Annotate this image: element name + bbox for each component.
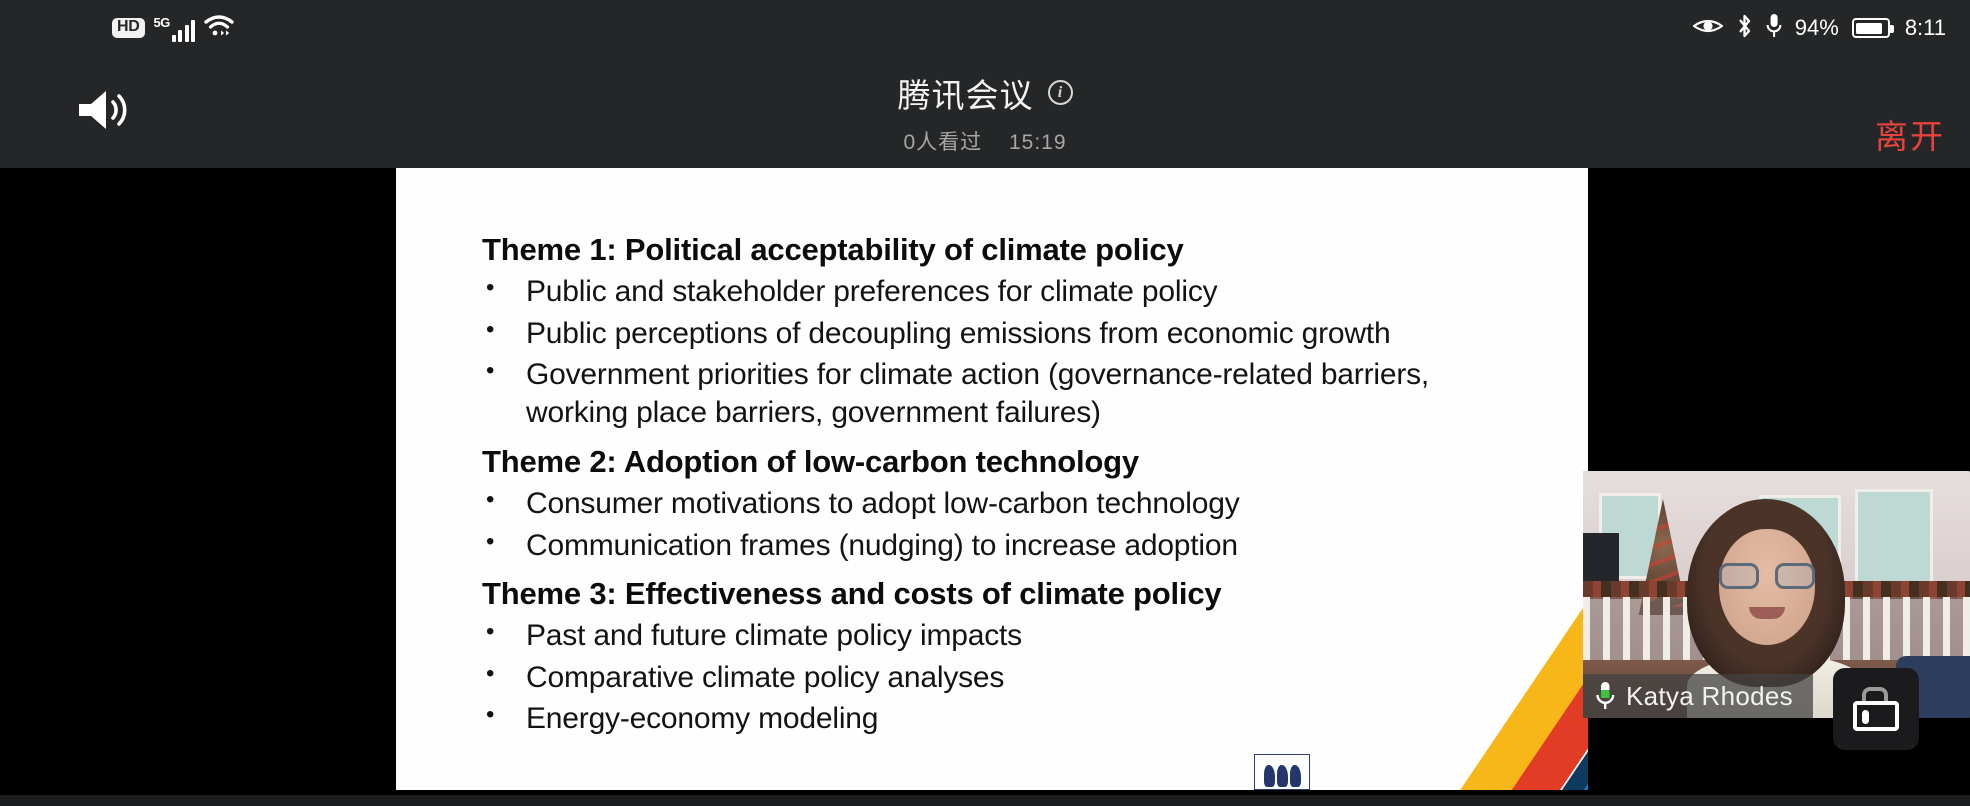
slide-bullet-text: Past and future climate policy impacts [526, 617, 1446, 655]
speaker-icon [75, 86, 131, 139]
network-type-label: 5G [154, 15, 170, 30]
slide-bullet: •Public and stakeholder preferences for … [482, 273, 1568, 311]
viewer-count-label: 0人看过 [903, 131, 982, 154]
bullet-glyph: • [482, 356, 526, 433]
slide-bullet-text: Public and stakeholder preferences for c… [526, 273, 1446, 311]
bullet-glyph: • [482, 485, 526, 523]
hd-badge-icon: HD [112, 18, 145, 38]
meeting-screen: HD 5G [0, 0, 1970, 806]
bullet-glyph: • [482, 659, 526, 697]
video-window [1855, 489, 1933, 585]
slide-bullet: •Public perceptions of decoupling emissi… [482, 315, 1568, 353]
microphone-icon [1766, 13, 1782, 44]
signal-bars-icon: 5G [154, 15, 196, 42]
leave-meeting-button[interactable]: 离开 [1875, 110, 1945, 158]
shared-content-stage: Theme 1: Political acceptability of clim… [0, 168, 1970, 806]
eye-icon [1693, 16, 1723, 41]
meeting-title-block: 腾讯会议 i 0人看过 15:19 [0, 56, 1970, 168]
participant-name-badge: Katya Rhodes [1583, 674, 1813, 718]
university-crest-logo [1254, 754, 1310, 790]
signal-bars-graphic [172, 19, 196, 42]
meeting-subtitle: 0人看过 15:19 [903, 126, 1066, 156]
bluetooth-icon [1736, 13, 1753, 44]
bullet-glyph: • [482, 527, 526, 565]
system-status-bar: HD 5G [0, 0, 1970, 56]
slide-content: Theme 1: Political acceptability of clim… [396, 168, 1588, 738]
slide-bullet: •Communication frames (nudging) to incre… [482, 527, 1568, 565]
slide-heading: Theme 3: Effectiveness and costs of clim… [482, 574, 1568, 614]
participant-name: Katya Rhodes [1626, 681, 1793, 712]
layout-toggle-button[interactable] [1833, 668, 1919, 750]
layout-lock-icon [1853, 687, 1899, 731]
status-bar-right: 94% 8:11 [1693, 13, 1946, 44]
meeting-title-row: 腾讯会议 i [898, 69, 1073, 117]
status-bar-left: HD 5G [112, 14, 234, 43]
slide-bullet: •Comparative climate policy analyses [482, 659, 1568, 697]
bullet-glyph: • [482, 315, 526, 353]
microphone-icon [1595, 681, 1615, 711]
wifi-icon [204, 14, 234, 43]
slide-bullet: •Past and future climate policy impacts [482, 617, 1568, 655]
bullet-glyph: • [482, 700, 526, 738]
slide-bullet-text: Communication frames (nudging) to increa… [526, 527, 1446, 565]
info-icon[interactable]: i [1048, 80, 1073, 105]
slide-bullet: •Government priorities for climate actio… [482, 356, 1568, 433]
slide-bullet: •Energy-economy modeling [482, 700, 1568, 738]
slide-bullet: •Consumer motivations to adopt low-carbo… [482, 485, 1568, 523]
elapsed-time-label: 15:19 [1009, 131, 1067, 154]
battery-percent-label: 94% [1795, 15, 1839, 41]
slide-bullet-text: Consumer motivations to adopt low-carbon… [526, 485, 1446, 523]
bullet-glyph: • [482, 273, 526, 311]
system-nav-strip [0, 795, 1970, 806]
slide-heading: Theme 1: Political acceptability of clim… [482, 230, 1568, 270]
speaker-toggle-button[interactable] [72, 84, 134, 140]
bullet-glyph: • [482, 617, 526, 655]
meeting-header: 腾讯会议 i 0人看过 15:19 离开 [0, 56, 1970, 168]
meeting-title: 腾讯会议 [898, 69, 1034, 117]
shared-slide[interactable]: Theme 1: Political acceptability of clim… [396, 168, 1588, 790]
slide-heading: Theme 2: Adoption of low-carbon technolo… [482, 442, 1568, 482]
status-bar-clock: 8:11 [1905, 15, 1946, 41]
slide-bullet-text: Public perceptions of decoupling emissio… [526, 315, 1446, 353]
slide-bullet-text: Energy-economy modeling [526, 700, 1446, 738]
slide-bullet-text: Comparative climate policy analyses [526, 659, 1446, 697]
eyeglasses [1719, 563, 1815, 589]
slide-bullet-text: Government priorities for climate action… [526, 356, 1446, 433]
battery-icon [1852, 18, 1890, 38]
